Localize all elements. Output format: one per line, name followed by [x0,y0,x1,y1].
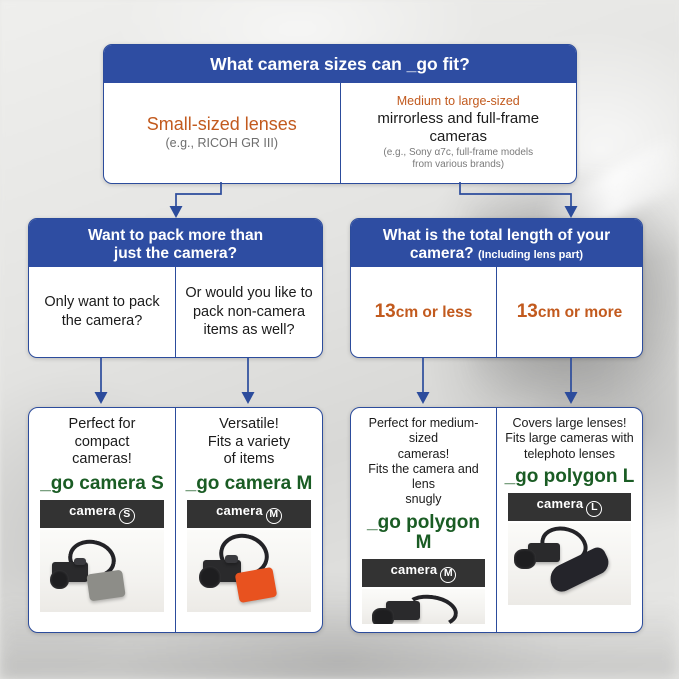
result-3-product-photo [362,589,486,624]
arrowhead-result-1 [95,392,108,404]
result-2-desc-line-1: Versatile! [208,416,290,434]
result-1-product-photo [40,530,165,612]
result-4-desc-line-2: Fits large cameras with [505,431,634,446]
arrow-top-left-to-question-1 [176,182,221,208]
question-1-title-line-1: Want to pack more than [29,227,322,245]
top-option-large-cameras[interactable]: Medium to large-sized mirrorless and ful… [340,83,577,183]
result-3-product-name: _go polygon M [357,513,490,555]
result-3-badge: cameraM [362,559,486,587]
connector-group-row2 [0,358,679,408]
question-2-title-line-2-wrap: camera? (Including lens part) [351,245,642,263]
answer-only-camera[interactable]: Only want to pack the camera? [29,267,175,357]
result-4-description: Covers large lenses! Fits large cameras … [505,416,634,462]
top-question-title: What camera sizes can _go fit? [104,45,576,83]
result-1-badge-text: camera [69,503,116,518]
question-1-title: Want to pack more than just the camera? [29,219,322,267]
question-2-title: What is the total length of your camera?… [351,219,642,267]
result-2-product-photo [187,530,312,612]
question-2-title-line-1: What is the total length of your [351,227,642,245]
result-1-description: Perfect for compact cameras! [69,416,136,469]
result-1-product-name: _go camera S [40,474,164,495]
arrowhead-result-2 [242,392,255,404]
arrow-top-right-to-question-2 [460,182,571,208]
result-card-go-camera-m[interactable]: Versatile! Fits a variety of items _go c… [175,408,322,632]
top-option-columns: Small-sized lenses (e.g., RICOH GR III) … [104,83,576,183]
result-card-go-polygon-l[interactable]: Covers large lenses! Fits large cameras … [496,408,642,632]
answer-3-number: 13 [375,301,396,322]
question-2-title-suffix: (Including lens part) [478,249,583,261]
top-option-2-headline: mirrorless and full-frame [377,110,539,128]
result-3-desc-line-4: snugly [357,492,490,507]
top-option-1-example: (e.g., RICOH GR III) [165,136,278,152]
answer-4-number: 13 [517,301,538,322]
result-3-desc-line-1: Perfect for medium-sized [357,416,490,447]
result-panel-polygon-series: Perfect for medium-sized cameras! Fits t… [350,407,643,633]
result-1-desc-line-3: cameras! [69,451,136,469]
arrowhead-question-2 [565,206,578,218]
result-card-go-camera-s[interactable]: Perfect for compact cameras! _go camera … [29,408,175,632]
answer-non-camera-items[interactable]: Or would you like to pack non-camera ite… [175,267,322,357]
result-card-go-polygon-m[interactable]: Perfect for medium-sized cameras! Fits t… [351,408,496,632]
result-panel-camera-series: Perfect for compact cameras! _go camera … [28,407,323,633]
result-4-desc-line-3: telephoto lenses [505,447,634,462]
result-4-desc-line-1: Covers large lenses! [505,416,634,431]
question-panel-pack-more: Want to pack more than just the camera? … [28,218,323,358]
result-columns-left: Perfect for compact cameras! _go camera … [29,408,322,632]
answer-1-text: Only want to pack the camera? [38,293,166,330]
result-1-badge-letter: S [119,508,135,524]
top-option-small-lenses[interactable]: Small-sized lenses (e.g., RICOH GR III) [104,83,340,183]
result-4-badge-text: camera [537,496,584,511]
result-2-badge-text: camera [216,503,263,518]
pouch-illustration-2 [234,567,277,603]
result-3-desc-line-3: Fits the camera and lens [357,462,490,493]
top-option-2-headline-2: cameras [429,128,487,146]
question-1-answer-columns: Only want to pack the camera? Or would y… [29,267,322,357]
result-3-badge-letter: M [440,567,456,583]
result-4-badge: cameraL [508,493,632,521]
result-2-badge-letter: M [266,508,282,524]
result-4-badge-letter: L [586,501,602,517]
result-1-desc-line-1: Perfect for [69,416,136,434]
arrowhead-result-3 [417,392,430,404]
top-question-panel: What camera sizes can _go fit? Small-siz… [103,44,577,184]
result-2-badge: cameraM [187,500,312,528]
result-2-product-name: _go camera M [186,474,313,495]
result-1-badge: cameraS [40,500,165,528]
question-panel-total-length: What is the total length of your camera?… [350,218,643,358]
answer-4-unit: cm or more [538,304,622,321]
arrowhead-result-4 [565,392,578,404]
question-2-title-line-2: camera? [410,245,474,262]
top-option-2-example-line-1: (e.g., Sony α7c, full-frame models [383,147,533,160]
top-option-1-headline: Small-sized lenses [147,114,297,136]
question-2-answer-columns: 13cm or less 13cm or more [351,267,642,357]
pouch-illustration-1 [86,570,125,602]
answer-13cm-or-less[interactable]: 13cm or less [351,267,496,357]
question-1-title-line-2: just the camera? [29,245,322,263]
connector-group-row1 [0,182,679,222]
flowchart-infographic: What camera sizes can _go fit? Small-siz… [0,0,679,679]
answer-3-unit: cm or less [396,304,473,321]
answer-3-value: 13cm or less [375,300,473,324]
result-3-desc-line-2: cameras! [357,447,490,462]
camera-illustration-3 [370,593,444,624]
result-4-product-name: _go polygon L [505,467,635,488]
top-option-2-lead: Medium to large-sized [397,94,520,110]
result-2-desc-line-3: of items [208,451,290,469]
result-3-badge-text: camera [391,562,438,577]
answer-2-text: Or would you like to pack non-camera ite… [185,284,313,340]
result-4-product-photo [508,523,632,605]
result-2-description: Versatile! Fits a variety of items [208,416,290,469]
arrowhead-question-1 [170,206,183,218]
top-option-2-example-line-2: from various brands) [412,159,504,172]
result-3-description: Perfect for medium-sized cameras! Fits t… [357,416,490,508]
answer-13cm-or-more[interactable]: 13cm or more [496,267,642,357]
result-2-desc-line-2: Fits a variety [208,434,290,452]
answer-4-value: 13cm or more [517,300,623,324]
result-columns-right: Perfect for medium-sized cameras! Fits t… [351,408,642,632]
result-1-desc-line-2: compact [69,434,136,452]
